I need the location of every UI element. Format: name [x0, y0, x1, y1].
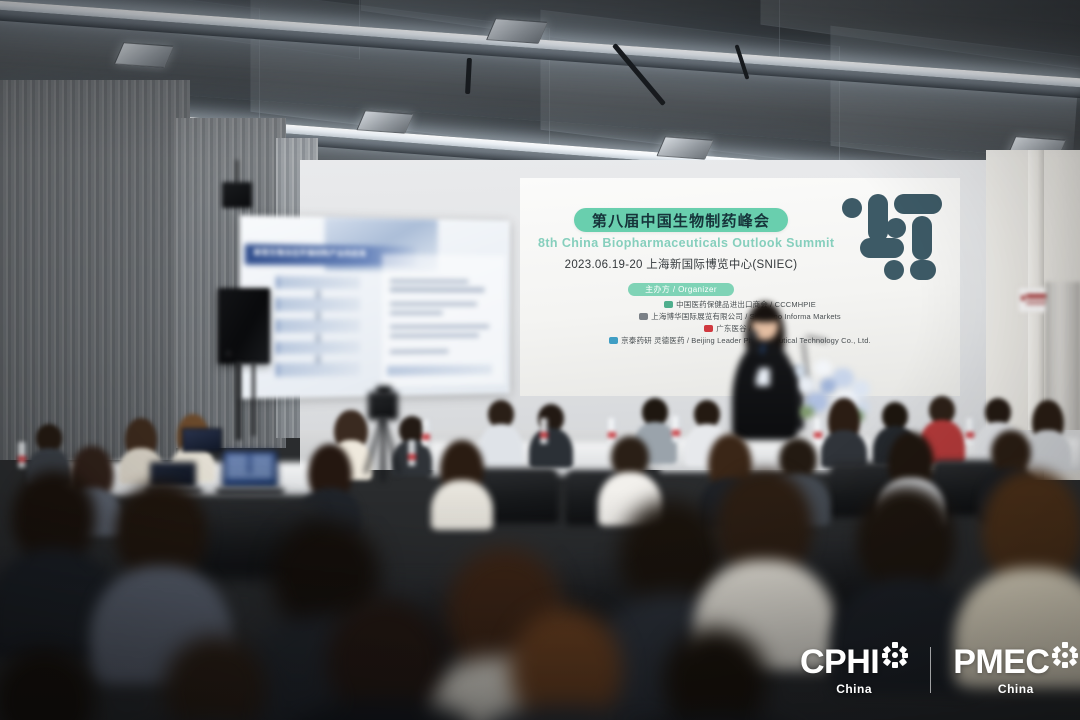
- water-bottle: [540, 418, 548, 444]
- laptop-screen: [182, 428, 222, 452]
- organizer-logo-mark: [609, 337, 618, 344]
- backdrop-date-venue: 2023.06.19-20 上海新国际博览中心(SNIEC): [538, 256, 824, 272]
- hanging-speaker: [222, 182, 252, 208]
- cphi-flower-icon: [882, 642, 908, 668]
- speaker-stand: [236, 362, 241, 440]
- audience-member: [0, 648, 120, 720]
- video-camera: [368, 392, 398, 420]
- organizer-pill-label: 主办方 / Organizer: [645, 284, 717, 295]
- audience-member: [530, 404, 572, 464]
- wall-curtain: [0, 80, 190, 460]
- organizer-logo-mark: [704, 325, 713, 332]
- speaker-stand: [252, 362, 255, 436]
- conference-photo: 新型生物法在环保材料产业的应用 第八届中国生物制药峰会 8th China Bi…: [0, 0, 1080, 720]
- cphi-wordmark: CPHI: [800, 645, 879, 679]
- microphone-head-icon: [749, 330, 758, 338]
- presenter: [726, 300, 804, 440]
- logo-divider: [930, 647, 931, 693]
- presenter-blazer: [732, 342, 798, 440]
- audience-member: [300, 600, 470, 720]
- laptop-base: [216, 488, 284, 496]
- slide-heading: 新型生物法在环保材料产业的应用: [254, 247, 366, 259]
- backdrop-title-en: 8th China Biopharmaceuticals Outlook Sum…: [538, 236, 824, 250]
- presentation-slide: [240, 215, 510, 399]
- presenter-fringe: [751, 308, 779, 322]
- water-bottle: [422, 420, 430, 446]
- pmec-region-label: China: [998, 682, 1034, 696]
- pmec-logo: PMEC China: [953, 645, 1078, 696]
- loudspeaker: [218, 288, 270, 364]
- organizer-pill: 主办方 / Organizer: [628, 283, 734, 296]
- audience-member: [640, 628, 790, 720]
- audience-member: [140, 636, 290, 720]
- cphi-logo: CPHI China: [800, 645, 908, 696]
- audience-member: [486, 610, 646, 720]
- pmec-flower-icon: [1052, 642, 1078, 668]
- water-bottle: [408, 440, 416, 466]
- summit-logo-icon: [842, 190, 946, 284]
- backdrop-title-cn: 第八届中国生物制药峰会: [592, 210, 770, 231]
- wall-sign-icon: [1021, 295, 1025, 301]
- audience-member: [432, 440, 492, 522]
- audience-member: [822, 398, 866, 462]
- water-bottle: [966, 418, 974, 444]
- water-bottle: [672, 416, 680, 442]
- water-bottle: [18, 442, 26, 468]
- event-watermark-logo: CPHI China PMEC: [800, 645, 1078, 696]
- projection-screen: 新型生物法在环保材料产业的应用: [240, 215, 510, 399]
- laptop-screen: [222, 450, 279, 488]
- cphi-region-label: China: [836, 682, 872, 696]
- pmec-wordmark: PMEC: [953, 645, 1049, 679]
- backdrop-title-cn-pill: 第八届中国生物制药峰会: [574, 208, 788, 232]
- organizer-logo-mark: [639, 313, 648, 320]
- organizer-logo-mark: [664, 301, 673, 308]
- camera-lens-icon: [376, 386, 392, 395]
